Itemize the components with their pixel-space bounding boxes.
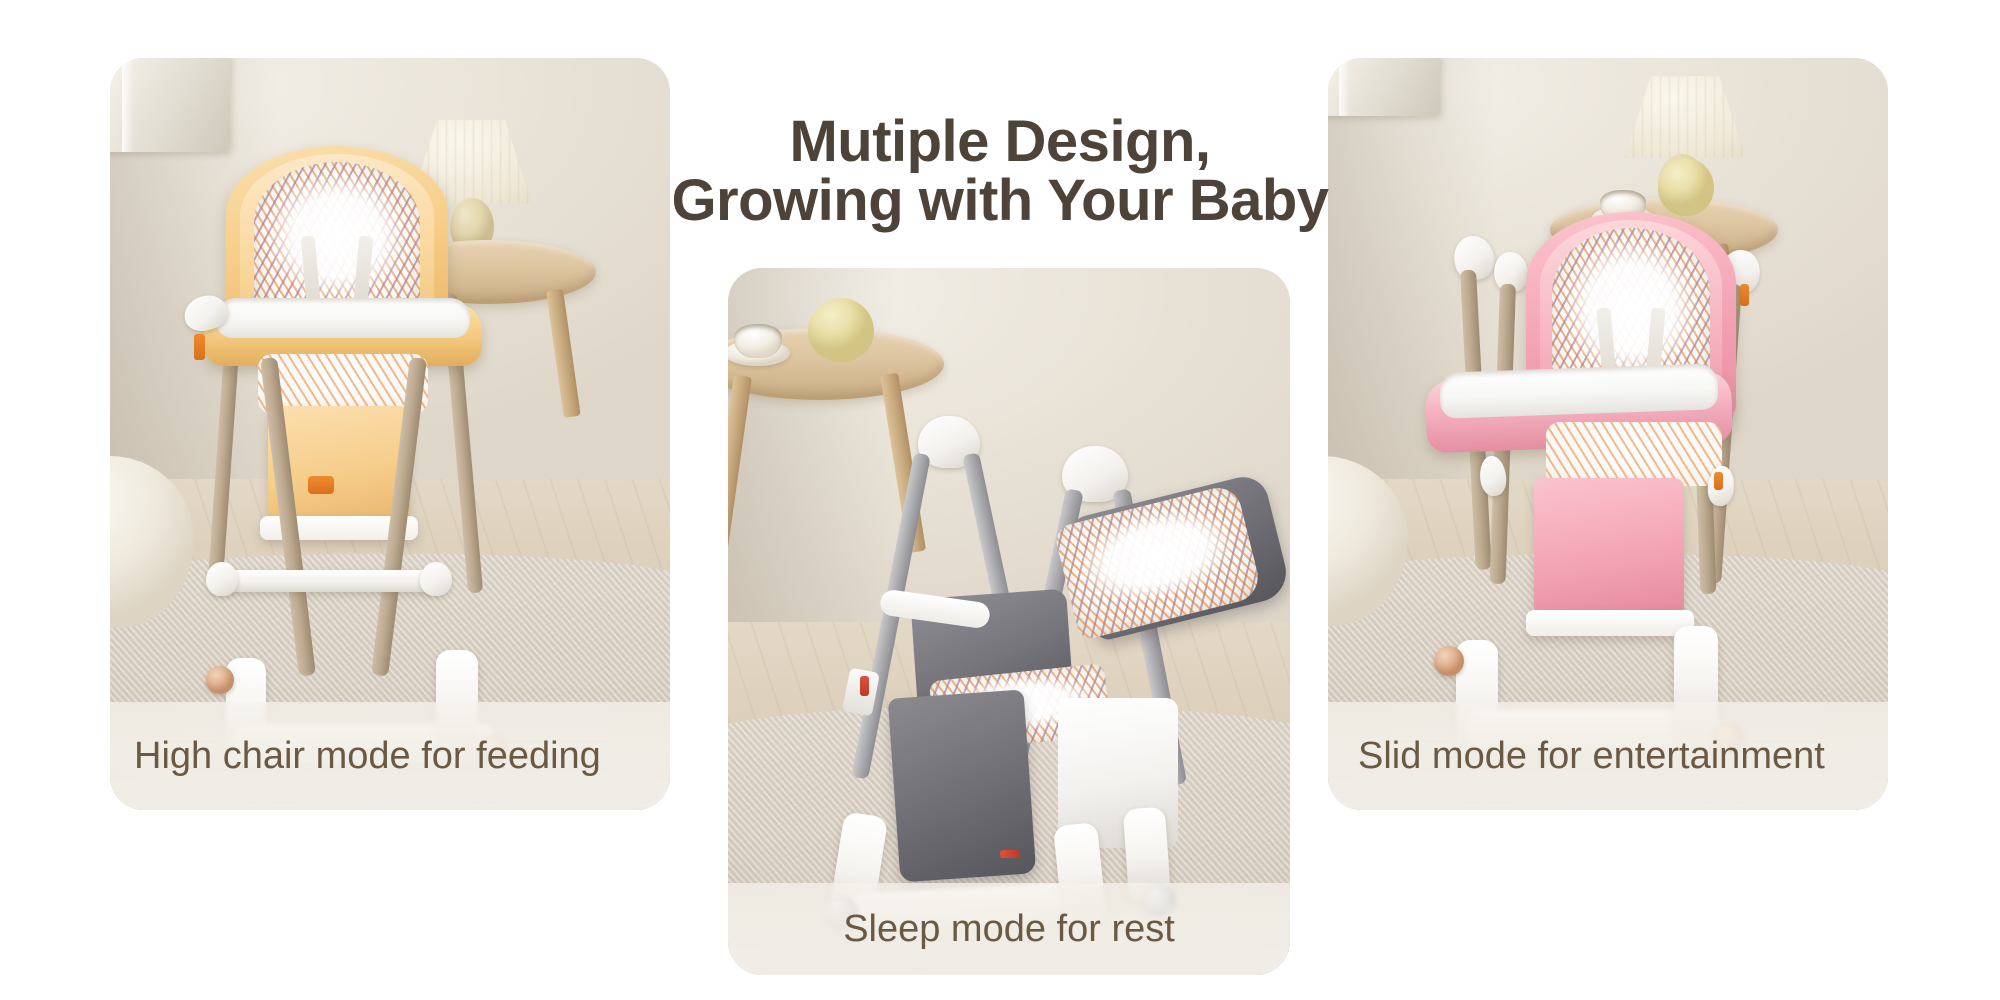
chair-seat-pan bbox=[1546, 422, 1722, 486]
panel-caption-left: High chair mode for feeding bbox=[110, 702, 670, 810]
chair-cross-brace bbox=[214, 570, 438, 592]
chair-wheel bbox=[206, 666, 234, 694]
caption-label: Sleep mode for rest bbox=[843, 908, 1175, 951]
product-panel-sleep-mode[interactable]: Sleep mode for rest bbox=[728, 268, 1290, 975]
chair-wheel bbox=[1434, 646, 1464, 676]
chair-tray-surface bbox=[216, 298, 470, 338]
chair-orange-tag bbox=[1714, 472, 1723, 490]
chair-seat-pan bbox=[258, 354, 428, 414]
high-chair-grey-sleep bbox=[728, 268, 1290, 975]
chair-brace-knob bbox=[206, 562, 238, 596]
chair-brace-knob bbox=[420, 562, 452, 596]
high-chair-pink bbox=[1328, 58, 1888, 810]
chair-footrest-lip bbox=[1526, 610, 1694, 636]
headline-line-1: Mutiple Design, bbox=[789, 109, 1210, 174]
chair-orange-tag bbox=[308, 476, 334, 494]
high-chair-yellow bbox=[110, 58, 670, 810]
headline-line-2: Growing with Your Baby bbox=[620, 171, 1380, 230]
chair-orange-tag bbox=[194, 334, 205, 360]
panel-caption-center: Sleep mode for rest bbox=[728, 883, 1290, 975]
panel-caption-right: Slid mode for entertainment bbox=[1328, 702, 1888, 810]
chair-red-marker bbox=[1000, 850, 1020, 858]
product-panel-high-chair-mode[interactable]: High chair mode for feeding bbox=[110, 58, 670, 810]
chair-footrest bbox=[1534, 478, 1684, 622]
chair-cushion bbox=[1053, 483, 1263, 641]
product-panel-slid-mode[interactable]: Slid mode for entertainment bbox=[1328, 58, 1888, 810]
chair-orange-tag bbox=[1740, 284, 1749, 306]
caption-label: Slid mode for entertainment bbox=[1328, 735, 1825, 778]
page-title: Mutiple Design, Growing with Your Baby bbox=[620, 112, 1380, 230]
chair-red-marker bbox=[860, 676, 869, 696]
caption-label: High chair mode for feeding bbox=[110, 735, 601, 778]
chair-tray-surface bbox=[1439, 363, 1718, 419]
